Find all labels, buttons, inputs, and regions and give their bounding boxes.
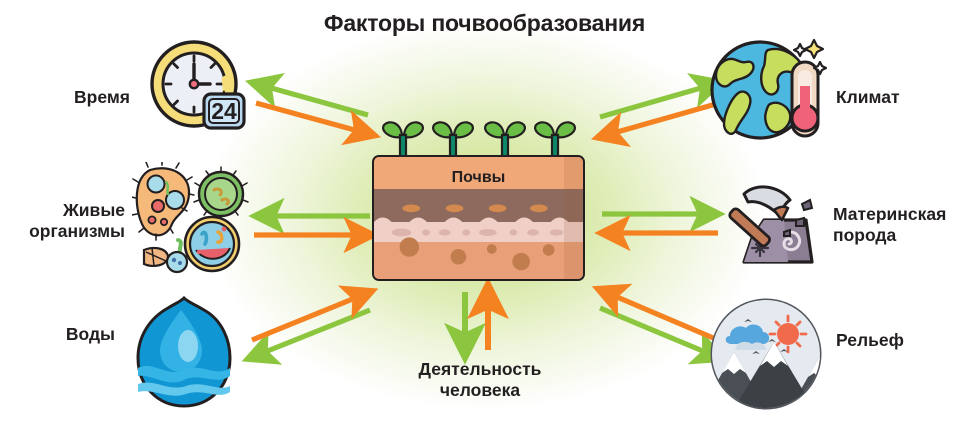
arrow-pair-time [250,75,380,145]
factor-label-climate: Климат [836,87,966,108]
svg-text:24: 24 [211,98,237,124]
arrow-pair-human [440,288,510,356]
factor-label-time: Время [10,87,130,108]
sprout-icon [380,113,426,161]
sprout-icon [482,113,528,161]
soil-label: Почвы [374,169,583,187]
microorganisms-icon[interactable] [132,162,254,279]
factor-label-relief: Рельеф [836,330,956,351]
factor-label-human: Деятельность человека [385,359,575,402]
soil-profile-icon: Почвы [372,113,585,281]
diagram-canvas: Факторы почвообразования [0,0,969,427]
pickaxe-rock-icon[interactable] [718,176,824,281]
arrow-pair-parentrock [596,203,721,247]
arrow-pair-climate [592,72,722,144]
earth-thermometer-icon[interactable] [706,34,830,149]
factor-label-organisms: Живые организмы [0,200,125,243]
sprout-icon [532,113,578,161]
soil-block: Почвы [372,155,585,281]
arrow-pair-relief [590,292,725,367]
factor-label-water: Воды [10,324,115,345]
water-globe-icon[interactable] [126,292,242,419]
arrow-pair-water [248,292,383,367]
page-title: Факторы почвообразования [0,10,969,37]
mountains-icon[interactable] [708,296,824,417]
factor-label-parentrock: Материнская порода [833,204,969,247]
sprout-icon [430,113,476,161]
arrow-pair-organisms [252,205,377,247]
clock-24-icon[interactable]: 24 [146,36,258,146]
